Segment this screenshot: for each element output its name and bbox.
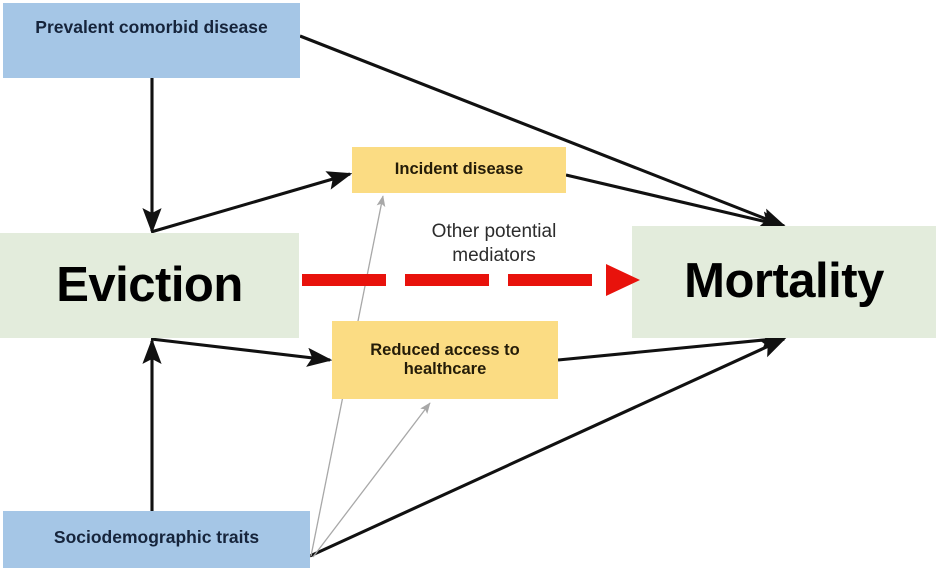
node-eviction[interactable]: Eviction xyxy=(0,233,299,338)
edge-sociodemographic-to-reduced-access xyxy=(313,403,430,557)
edge-incident-disease-to-mortality xyxy=(566,175,784,226)
node-label-incident-disease: Incident disease xyxy=(352,160,566,179)
red-dash-segment xyxy=(405,274,489,286)
edge-prevalent-to-mortality xyxy=(300,36,784,226)
node-label-eviction: Eviction xyxy=(0,257,299,315)
red-dash-segment xyxy=(302,274,386,286)
red-arrowhead xyxy=(606,264,640,296)
red-dash-segment xyxy=(508,274,592,286)
node-incident-disease[interactable]: Incident disease xyxy=(352,147,566,193)
edge-eviction-to-reduced-access xyxy=(151,339,330,360)
node-mortality[interactable]: Mortality xyxy=(632,226,936,338)
node-label-reduced-access: Reduced access to healthcare xyxy=(332,341,558,380)
diagram-canvas: Prevalent comorbid disease Eviction Mort… xyxy=(0,0,936,568)
edge-reduced-access-to-mortality xyxy=(558,338,784,360)
node-prevalent-comorbid-disease[interactable]: Prevalent comorbid disease xyxy=(3,3,300,78)
edge-eviction-to-incident-disease xyxy=(151,174,350,232)
node-label-mortality: Mortality xyxy=(632,253,936,311)
node-reduced-access[interactable]: Reduced access to healthcare xyxy=(332,321,558,399)
node-sociodemographic-traits[interactable]: Sociodemographic traits xyxy=(3,511,310,568)
red-dashed-mediator-arrow xyxy=(300,264,640,296)
node-label-sociodemographic-traits: Sociodemographic traits xyxy=(3,527,310,548)
label-other-potential-mediators: Other potential mediators xyxy=(399,220,589,269)
node-label-prevalent-comorbid-disease: Prevalent comorbid disease xyxy=(3,17,300,38)
